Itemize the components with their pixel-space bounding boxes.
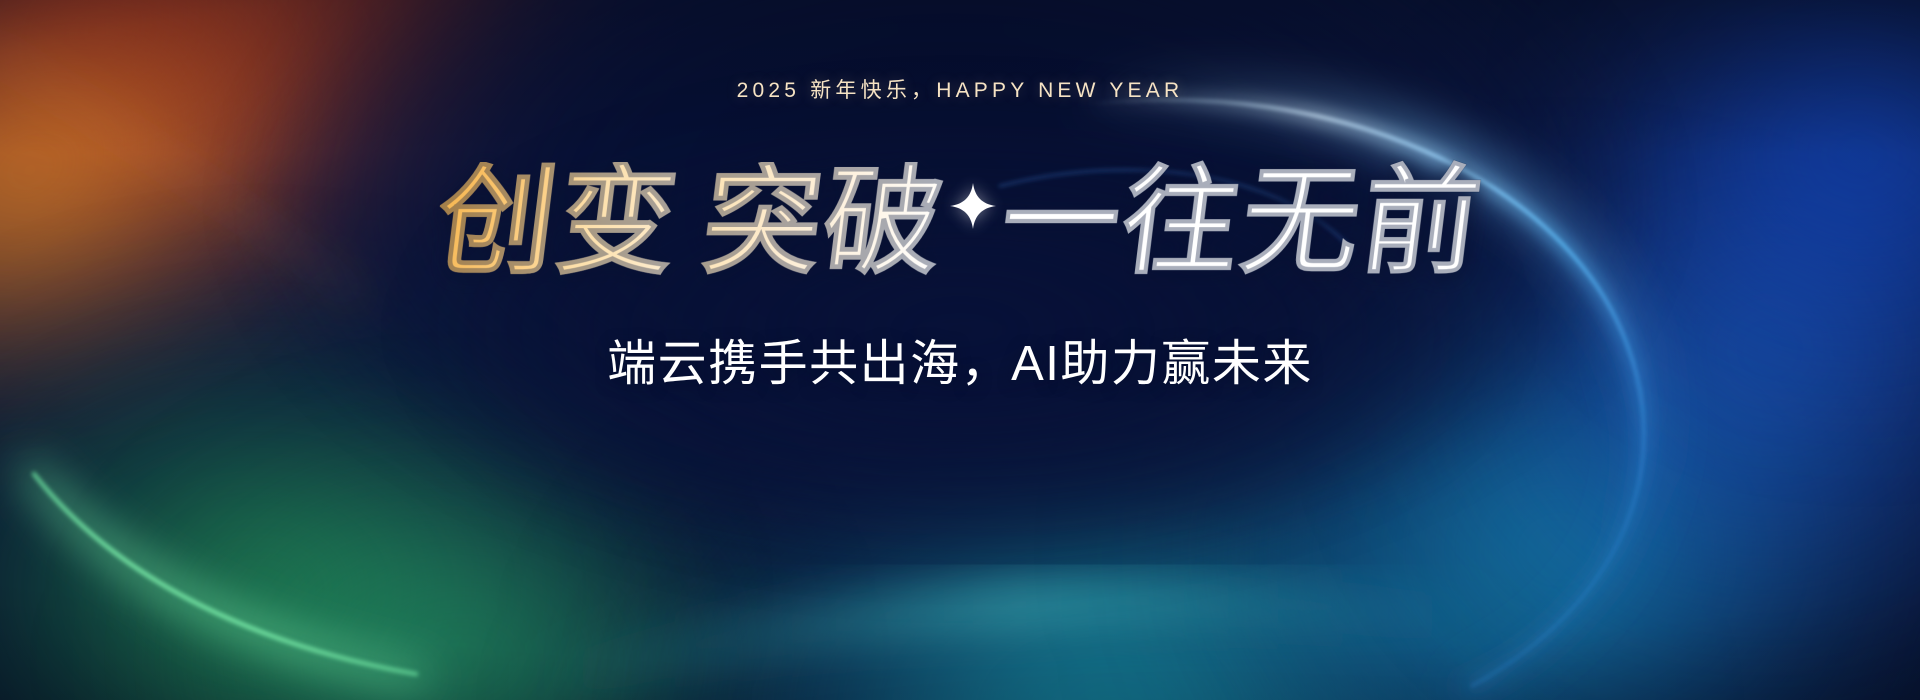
- headline-segment-chuangbian: 创变: [431, 162, 686, 280]
- banner-eyebrow-text: 2025 新年快乐，HAPPY NEW YEAR: [737, 74, 1184, 104]
- sparkle-icon: [950, 183, 996, 229]
- banner-content: 2025 新年快乐，HAPPY NEW YEAR 创变 突破 一往无前 端云携手…: [0, 0, 1920, 700]
- new-year-banner: 2025 新年快乐，HAPPY NEW YEAR 创变 突破 一往无前 端云携手…: [0, 0, 1920, 700]
- headline-segment-tupo: 突破: [697, 162, 952, 280]
- banner-headline: 创变 突破 一往无前: [438, 162, 1482, 280]
- banner-subtitle: 端云携手共出海，AI助力赢未来: [607, 324, 1313, 395]
- headline-segment-yiwangwuqian: 一往无前: [995, 162, 1490, 280]
